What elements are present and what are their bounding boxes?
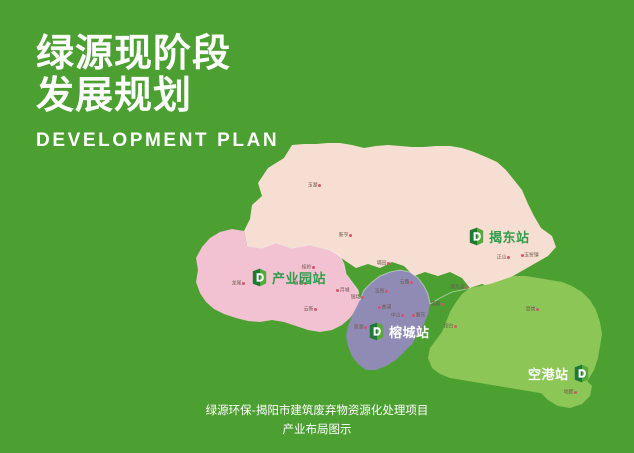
- jieyang-district-map: [0, 0, 634, 453]
- greenyuan-logo-icon: [369, 322, 384, 341]
- station-marker-rongcheng-station[interactable]: 榕城站: [369, 322, 430, 341]
- station-marker-jiedong-station[interactable]: 揭东站: [469, 227, 530, 246]
- greenyuan-logo-icon: [469, 227, 484, 246]
- greenyuan-logo-icon: [574, 364, 589, 383]
- station-label: 榕城站: [389, 322, 430, 341]
- station-label: 产业园站: [272, 268, 326, 287]
- greenyuan-logo-icon: [252, 268, 267, 287]
- station-label: 空港站: [528, 364, 569, 383]
- station-label: 揭东站: [489, 227, 530, 246]
- greenyuan-logo-icon: [469, 227, 484, 246]
- station-marker-airport-station[interactable]: 空港站: [528, 364, 589, 383]
- greenyuan-logo-icon: [369, 322, 384, 341]
- greenyuan-logo-icon: [574, 364, 589, 383]
- greenyuan-logo-icon: [252, 268, 267, 287]
- map-container: [0, 0, 634, 453]
- poster-canvas: 玉湖新亨埔田云路锡场曲溪玉窖中山磐东霖磐揭东县白塔桂岭龙尾云新月城渔湖正山玉窖镇…: [0, 0, 634, 453]
- station-marker-industrial-park-station[interactable]: 产业园站: [252, 268, 326, 287]
- region-rongcheng[interactable]: [346, 270, 430, 370]
